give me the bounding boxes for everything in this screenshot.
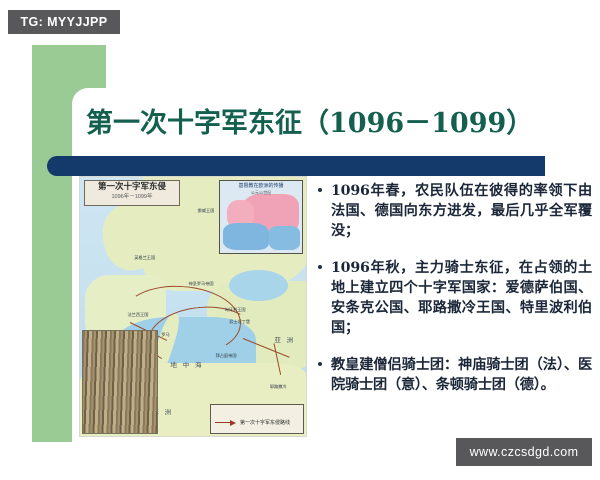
crusade-map-image: 挪威王国 英格兰王国 神圣罗马帝国 法兰西王国 匈牙利王国 罗马 君士坦丁堡 拜… xyxy=(79,176,307,437)
map-label: 耶路撒冷 xyxy=(270,384,287,389)
route-arrow-icon xyxy=(215,420,237,426)
map-title-cartouche: 第一次十字军东侵 1096年－1099年 xyxy=(84,180,180,206)
legend-row: 第一次十字军东侵路线 xyxy=(215,419,290,426)
slide-canvas: 第一次十字军东征（1096－1099） 挪威王国 英格兰王国 神圣罗马帝国 法兰… xyxy=(0,0,600,480)
watermark-bottom-right: www.czcsdgd.com xyxy=(456,438,592,466)
bullet-dot-icon xyxy=(318,265,322,269)
map-label-continent-asia: 亚 洲 xyxy=(274,338,295,343)
page-title: 第一次十字军东征（1096－1099） xyxy=(86,101,556,147)
map-subtitle-text: 1096年－1099年 xyxy=(85,193,179,202)
map-label: 神圣罗马帝国 xyxy=(188,281,213,286)
title-underline-bar xyxy=(47,156,545,176)
map-label: 罗马 xyxy=(161,332,169,337)
map-label: 君士坦丁堡 xyxy=(229,319,250,324)
map-label-sea: 地 中 海 xyxy=(170,363,203,368)
map-inset-christianity-spread: 基督教在欧洲的传播 公元11世纪 xyxy=(219,180,303,254)
list-item-text: 教皇建僧侣骑士团：神庙骑士团（法）、医院骑士团（意）、条顿骑士团（德）。 xyxy=(331,355,592,395)
list-item: 教皇建僧侣骑士团：神庙骑士团（法）、医院骑士团（意）、条顿骑士团（德）。 xyxy=(318,355,592,395)
map-legend: 第一次十字军东侵路线 xyxy=(210,404,304,434)
list-item: 1096年秋，主力骑士东征，在占领的土地上建立四个十字军国家：爱德萨伯国、安条克… xyxy=(318,258,592,338)
bullet-dot-icon xyxy=(318,362,322,366)
legend-label: 第一次十字军东侵路线 xyxy=(240,419,290,426)
map-label: 法兰西王国 xyxy=(127,312,148,317)
map-label: 挪威王国 xyxy=(198,208,215,213)
inset-region-blue-east xyxy=(269,226,300,250)
map-label: 匈牙利王国 xyxy=(225,307,246,312)
map-engraving-photo: 十字军第一次东侵时，1099年攻占耶路撒冷 xyxy=(82,330,158,434)
inset-subtitle-text: 公元11世纪 xyxy=(220,190,302,196)
list-item-text: 1096年秋，主力骑士东征，在占领的土地上建立四个十字军国家：爱德萨伯国、安条克… xyxy=(331,258,592,338)
list-item-text: 1096年春，农民队伍在彼得的率领下由法国、德国向东方进发，最后几乎全军覆没； xyxy=(331,181,592,241)
map-label: 英格兰王国 xyxy=(134,255,155,260)
watermark-top-left: TG: MYYJJPP xyxy=(8,10,120,34)
map-title-text: 第一次十字军东侵 xyxy=(85,182,179,193)
inset-region-blue xyxy=(223,223,269,250)
list-item: 1096年春，农民队伍在彼得的率领下由法国、德国向东方进发，最后几乎全军覆没； xyxy=(318,181,592,241)
bullet-dot-icon xyxy=(318,188,322,192)
map-label: 拜占庭帝国 xyxy=(216,353,237,358)
bullet-list: 1096年春，农民队伍在彼得的率领下由法国、德国向东方进发，最后几乎全军覆没； … xyxy=(318,181,592,412)
inset-title-text: 基督教在欧洲的传播 xyxy=(220,182,302,189)
